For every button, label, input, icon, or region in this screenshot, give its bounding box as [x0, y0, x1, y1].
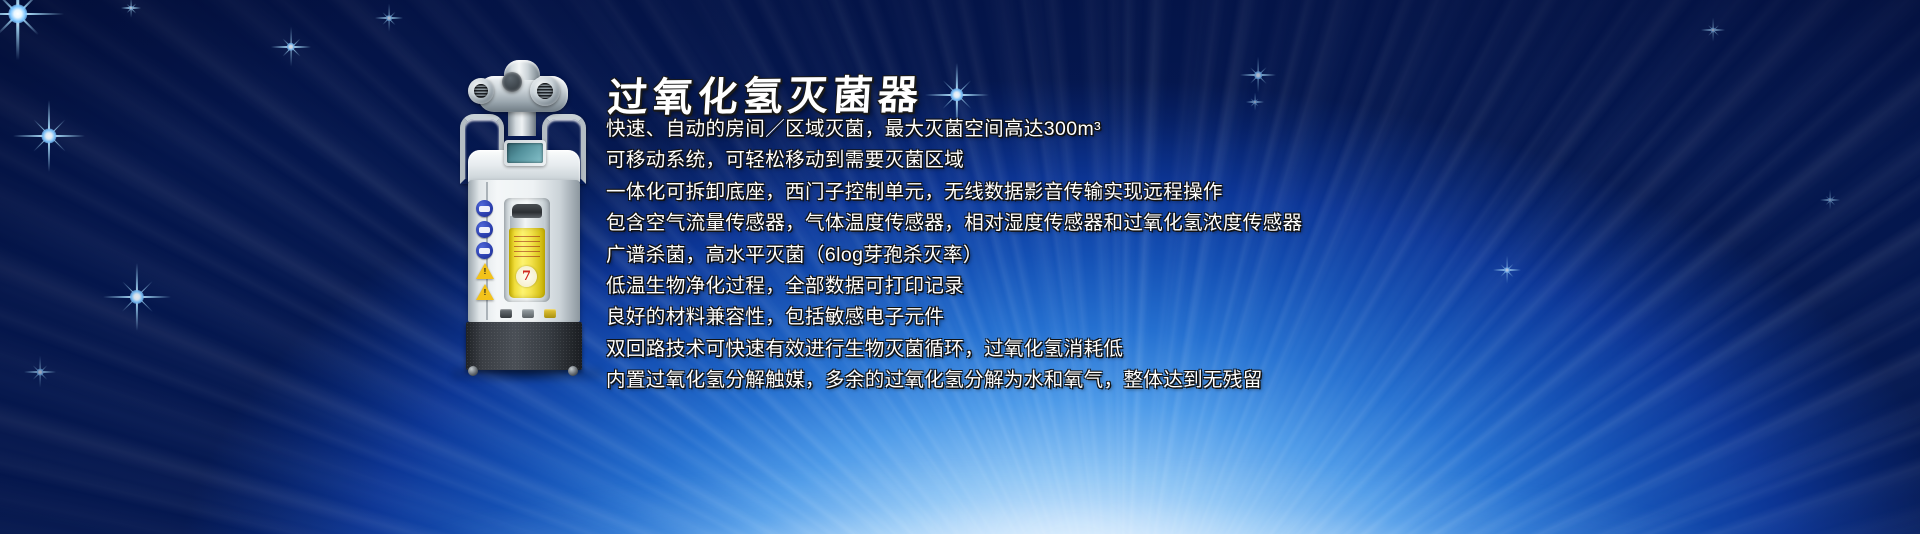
device-bottle-seal-number: 7 — [516, 266, 537, 287]
feature-line: 可移动系统，可轻松移动到需要灭菌区域 — [606, 145, 1303, 176]
device-nozzle-left — [468, 78, 494, 104]
device-bottle-cap — [512, 204, 542, 218]
product-banner: 7 过氧化氢灭菌器 快速、自动的房间／区域灭菌，最大灭菌空间高达300m³可移动… — [0, 0, 1920, 534]
feature-line: 快速、自动的房间／区域灭菌，最大灭菌空间高达300m³ — [606, 114, 1303, 145]
feature-list: 快速、自动的房间／区域灭菌，最大灭菌空间高达300m³可移动系统，可轻松移动到需… — [606, 114, 1303, 397]
protective-wear-sticker-icon — [476, 242, 493, 259]
feature-line: 良好的材料兼容性，包括敏感电子元件 — [606, 302, 1303, 333]
device-bottle-label — [514, 236, 540, 258]
device-caster-left — [468, 366, 478, 376]
device-port-socket — [500, 309, 512, 318]
feature-line: 广谱杀菌，高水平灭菌（6log芽孢杀灭率） — [606, 240, 1303, 271]
product-device-image: 7 — [446, 58, 606, 378]
device-control-screen — [504, 140, 546, 166]
device-caster-right — [568, 366, 578, 376]
warning-triangle-icon-1 — [476, 263, 494, 279]
feature-line: 包含空气流量传感器，气体温度传感器，相对湿度传感器和过氧化氢浓度传感器 — [606, 208, 1303, 239]
feature-line: 双回路技术可快速有效进行生物灭菌循环，过氧化氢消耗低 — [606, 334, 1303, 365]
feature-line: 内置过氧化氢分解触媒，多余的过氧化氢分解为水和氧气，整体达到无残留 — [606, 365, 1303, 396]
device-warning-sticker-group — [476, 200, 496, 305]
device-control-row — [500, 308, 556, 318]
no-access-sticker-icon — [476, 221, 493, 238]
device-indicator-lamp — [544, 309, 556, 318]
device-switch — [522, 309, 534, 318]
device-base-plinth — [466, 322, 582, 370]
device-nozzle-center — [502, 72, 522, 92]
no-entry-sticker-icon — [476, 200, 493, 217]
feature-line: 低温生物净化过程，全部数据可打印记录 — [606, 271, 1303, 302]
device-screen-glass — [507, 143, 543, 163]
device-nozzle-right — [530, 76, 560, 106]
warning-triangle-icon-2 — [476, 284, 494, 300]
feature-line: 一体化可拆卸底座，西门子控制单元，无线数据影音传输实现远程操作 — [606, 177, 1303, 208]
